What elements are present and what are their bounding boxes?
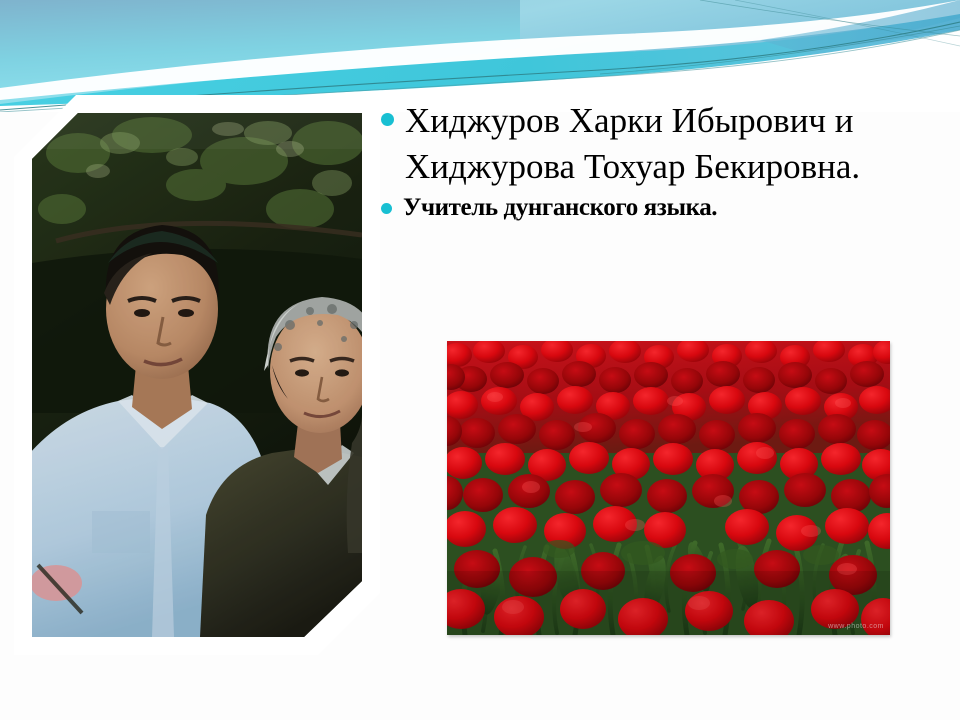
bullet-dot-icon [381,113,394,126]
bullet-text-primary: Хиджуров Харки Ибырович и Хиджурова Тоху… [405,98,937,190]
tulips-photo: www.photo.com [447,341,890,635]
tulips-watermark: www.photo.com [828,623,884,630]
tulips-photo-graphic [447,341,890,635]
slide-canvas: Хиджуров Харки Ибырович и Хиджурова Тоху… [0,0,960,720]
portrait-photo-frame [14,95,380,655]
portrait-photo-graphic [32,113,362,637]
portrait-photo [32,113,362,637]
bullet-list: Хиджуров Харки Ибырович и Хиджурова Тоху… [381,98,937,226]
list-item[interactable]: Хиджуров Харки Ибырович и Хиджурова Тоху… [381,98,937,190]
bullet-dot-icon [381,203,392,214]
list-item[interactable]: Учитель дунганского языка. [381,192,937,224]
bullet-text-secondary: Учитель дунганского языка. [403,192,937,224]
